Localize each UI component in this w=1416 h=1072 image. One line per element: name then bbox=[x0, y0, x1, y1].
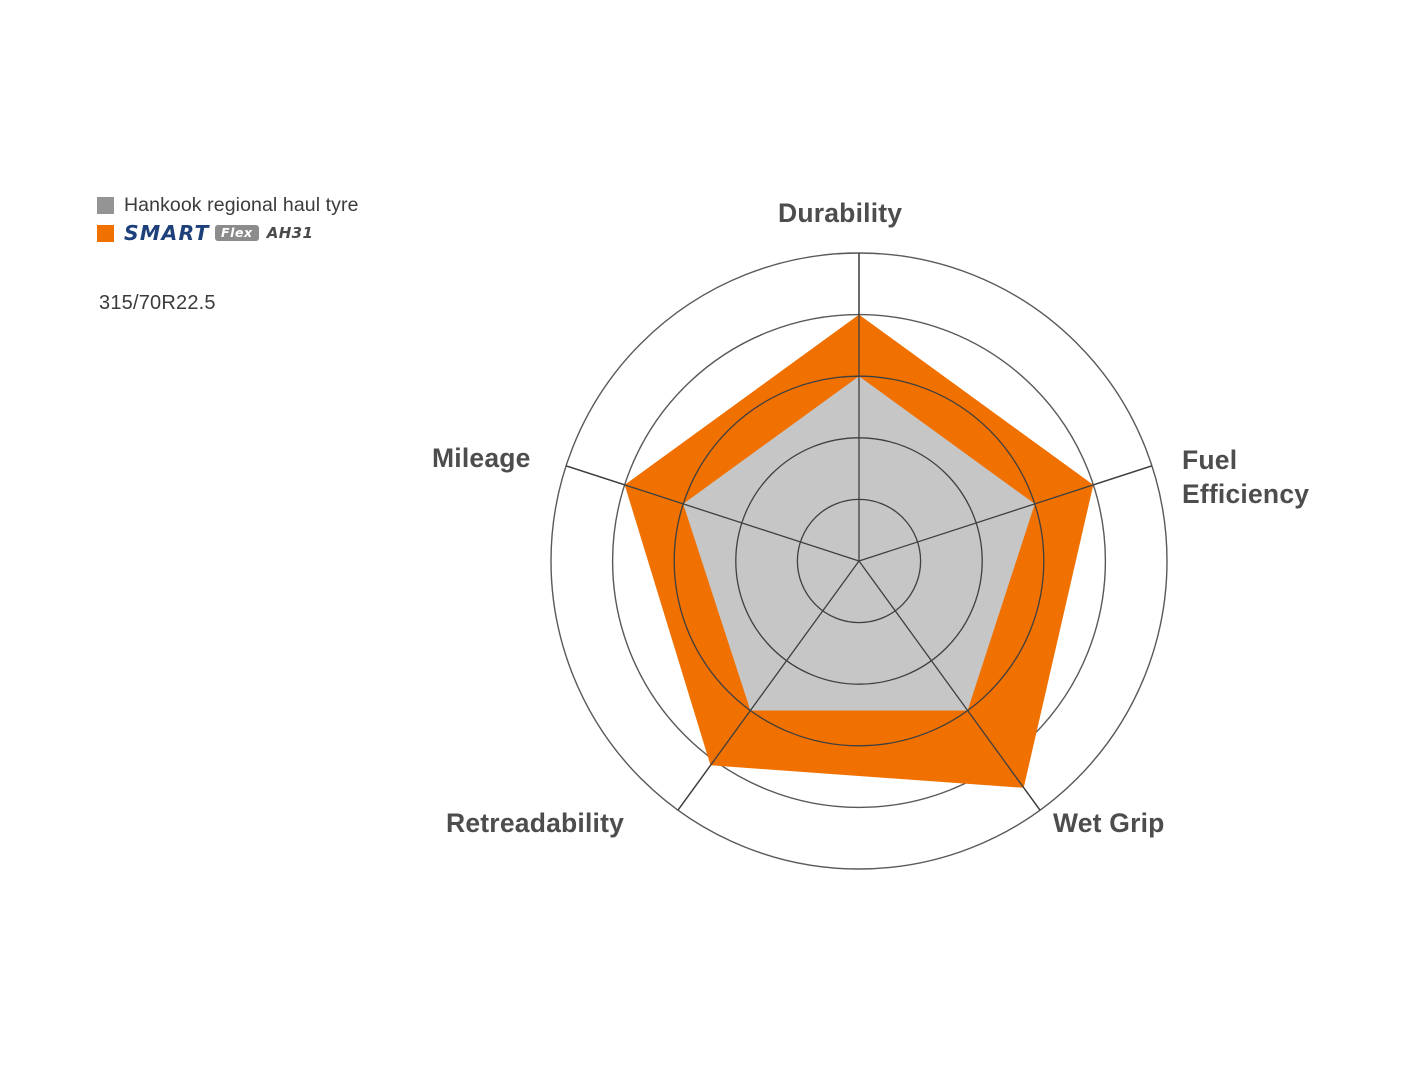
axis-label-durability: Durability bbox=[778, 196, 902, 230]
radar-chart-page: Hankook regional haul tyre SMART Flex AH… bbox=[0, 0, 1416, 1072]
axis-label-retreadability: Retreadability bbox=[446, 806, 624, 840]
axis-label-wet-grip: Wet Grip bbox=[1053, 806, 1165, 840]
radar-chart bbox=[0, 0, 1416, 1072]
axis-label-mileage: Mileage bbox=[432, 441, 531, 475]
axis-label-fuel-efficiency: Fuel Efficiency bbox=[1182, 443, 1309, 511]
